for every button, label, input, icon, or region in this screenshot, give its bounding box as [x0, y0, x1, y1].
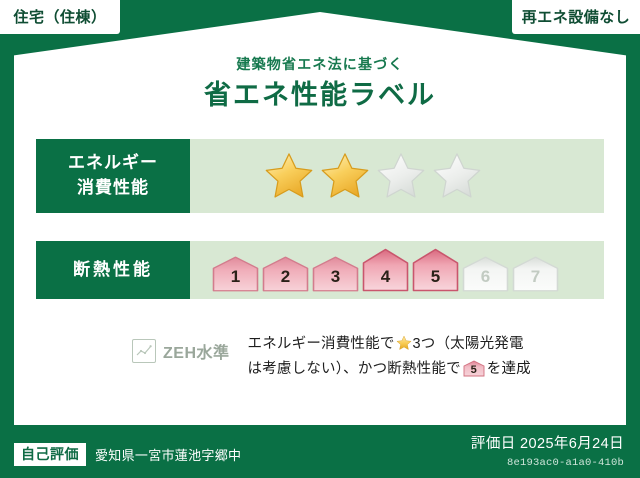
achievement-note: エネルギー消費性能で3つ（太陽光発電は考慮しない）、かつ断熱性能で5を達成	[248, 332, 606, 383]
building-type-tag-label: 住宅（住棟）	[13, 10, 106, 25]
insulation-grade-badge-number: 5	[431, 268, 440, 292]
renewable-energy-tag-label: 再エネ設備なし	[522, 10, 631, 25]
insulation-grade-badge-number: 1	[231, 268, 240, 292]
note-part1: エネルギー消費性能で	[248, 336, 395, 352]
insulation-grade-badge-number: 7	[531, 268, 540, 292]
note-star-count: 3つ（太陽光発電	[413, 336, 524, 352]
title-main: 省エネ性能ラベル	[0, 79, 640, 111]
energy-performance-label-line1: エネルギー	[68, 151, 158, 176]
inline-grade-badge-number: 5	[463, 365, 485, 376]
note-block: ZEH水準 エネルギー消費性能で3つ（太陽光発電は考慮しない）、かつ断熱性能で5…	[36, 332, 606, 383]
energy-performance-row: エネルギー 消費性能	[36, 139, 604, 213]
page-title: 建築物省エネ法に基づく 省エネ性能ラベル	[0, 56, 640, 111]
energy-performance-label: 住宅（住棟） 再エネ設備なし 建築物省エネ法に基づく 省エネ性能ラベル エネルギ…	[0, 0, 640, 478]
energy-performance-label: エネルギー 消費性能	[36, 139, 190, 213]
insulation-grade-badge: 3	[312, 256, 359, 292]
footer-right: 評価日 2025年6月24日 8e193ac0-a1a0-410b	[471, 435, 624, 469]
insulation-performance-label-text: 断熱性能	[73, 260, 153, 280]
title-subtitle: 建築物省エネ法に基づく	[0, 56, 640, 73]
evaluation-date: 評価日 2025年6月24日	[471, 435, 624, 454]
insulation-performance-value: 1234567	[190, 241, 604, 299]
insulation-grade-badge-number: 6	[481, 268, 490, 292]
note-part3: を達成	[487, 361, 531, 377]
star-icon-filled	[318, 149, 372, 203]
star-icon-empty	[430, 149, 484, 203]
building-type-tag: 住宅（住棟）	[0, 0, 120, 34]
footer-left: 自己評価 愛知県一宮市蓮池字郷中	[14, 443, 241, 466]
insulation-grade-badge: 5	[412, 248, 459, 292]
insulation-grade-badge: 2	[262, 256, 309, 292]
zeh-chart-icon	[132, 339, 156, 363]
insulation-grade-badge-number: 4	[381, 268, 390, 292]
energy-performance-value	[190, 139, 604, 213]
star-rating	[262, 149, 484, 203]
document-id: 8e193ac0-a1a0-410b	[471, 457, 624, 469]
insulation-performance-row: 断熱性能 1234567	[36, 241, 604, 299]
note-part2: は考慮しない）、かつ断熱性能で	[248, 361, 461, 377]
inline-grade-badge: 5	[463, 360, 485, 377]
energy-performance-label-line2: 消費性能	[77, 176, 149, 201]
property-address: 愛知県一宮市蓮池字郷中	[95, 445, 241, 464]
self-evaluation-badge: 自己評価	[14, 443, 86, 466]
insulation-grade-badge: 7	[512, 256, 559, 292]
insulation-grade-badge-number: 2	[281, 268, 290, 292]
insulation-grade-badge: 4	[362, 248, 409, 292]
zeh-standard-label: ZEH水準	[163, 339, 230, 363]
insulation-grade-scale: 1234567	[212, 248, 559, 292]
inline-star-icon	[396, 335, 412, 351]
zeh-standard-mark: ZEH水準	[36, 332, 230, 363]
star-icon-empty	[374, 149, 428, 203]
insulation-grade-badge: 6	[462, 256, 509, 292]
insulation-performance-label: 断熱性能	[36, 241, 190, 299]
renewable-energy-tag: 再エネ設備なし	[512, 0, 640, 34]
star-icon-filled	[262, 149, 316, 203]
insulation-grade-badge-number: 3	[331, 268, 340, 292]
insulation-grade-badge: 1	[212, 256, 259, 292]
